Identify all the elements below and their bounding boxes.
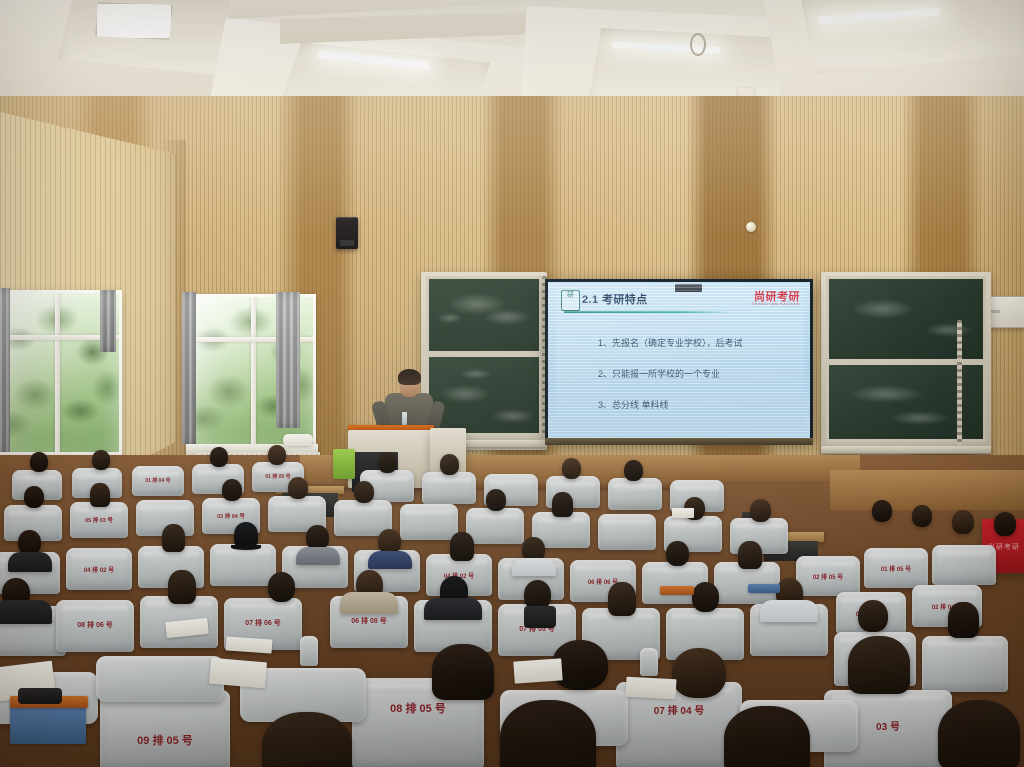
seat[interactable] bbox=[400, 504, 458, 540]
seat-label: 03 排 04 号 bbox=[202, 512, 260, 520]
seat[interactable] bbox=[598, 514, 656, 550]
seat[interactable]: 05 排 03 号 bbox=[70, 502, 128, 538]
seat-armrest bbox=[300, 636, 318, 666]
seat[interactable]: 02 排 05 号 bbox=[796, 556, 860, 596]
seat-label: 07 排 06 号 bbox=[224, 618, 302, 628]
seat[interactable] bbox=[922, 636, 1008, 692]
seat-armrest bbox=[640, 648, 658, 676]
chalkboard-left-upper bbox=[426, 276, 542, 354]
seat-label: 08 排 06 号 bbox=[56, 620, 134, 630]
screen-bottom-bar bbox=[545, 438, 813, 445]
seat-label: 01 排 04 号 bbox=[132, 477, 184, 484]
seat-tray[interactable] bbox=[748, 584, 780, 593]
seat[interactable] bbox=[422, 472, 476, 504]
slide-title: 2.1 考研特点 bbox=[582, 291, 648, 307]
seat-label: 07 排 04 号 bbox=[616, 702, 742, 717]
wall-knob bbox=[746, 222, 756, 232]
seat[interactable] bbox=[608, 478, 662, 510]
curtain-left-inner bbox=[100, 290, 116, 352]
curtain-left bbox=[0, 288, 10, 456]
notebook[interactable] bbox=[672, 508, 694, 518]
chalkboard-track-right bbox=[957, 320, 962, 446]
lecture-hall-photo: 研 2.1 考研特点 尚研考研 SHANGYAN KAOYAN 1、先报名（确定… bbox=[0, 0, 1024, 767]
green-chair-front bbox=[333, 449, 355, 479]
seat-label: 02 排 05 号 bbox=[796, 572, 860, 581]
slide-logo-mark: 研 bbox=[561, 290, 580, 311]
seat-label: 04 排 02 号 bbox=[66, 565, 132, 574]
seat[interactable] bbox=[210, 544, 276, 586]
slide-bullet-3: 3、总分线 单科线 bbox=[598, 398, 669, 411]
bag[interactable] bbox=[524, 606, 556, 628]
notebook[interactable] bbox=[209, 658, 267, 689]
slide-bullet-1: 1、先报名（确定专业学校），后考试 bbox=[598, 336, 743, 349]
water-bottle bbox=[402, 412, 407, 426]
notebook[interactable] bbox=[626, 677, 677, 700]
seat[interactable]: 08 排 06 号 bbox=[56, 600, 134, 652]
slide-title-rule bbox=[564, 311, 732, 313]
bag[interactable] bbox=[18, 688, 62, 704]
seat[interactable]: 04 排 02 号 bbox=[66, 548, 132, 590]
head-with-cap bbox=[234, 522, 258, 548]
ceiling-ring-fixture bbox=[690, 33, 706, 56]
curtain-right-b bbox=[276, 292, 300, 428]
seat[interactable] bbox=[466, 508, 524, 544]
ceiling-panel-light bbox=[95, 2, 173, 40]
seat[interactable] bbox=[932, 545, 996, 585]
slide-brand-logo-sub: SHANGYAN KAOYAN bbox=[751, 301, 800, 306]
curtain-right-a bbox=[182, 292, 196, 444]
projection-screen: 研 2.1 考研特点 尚研考研 SHANGYAN KAOYAN 1、先报名（确定… bbox=[545, 279, 813, 441]
seat-tray[interactable] bbox=[10, 704, 86, 744]
chalkboard-rail-right bbox=[821, 446, 991, 453]
window-sill-cloth bbox=[283, 434, 313, 446]
chalkboard-right-lower bbox=[826, 362, 986, 442]
wall-speaker bbox=[336, 217, 358, 249]
seat[interactable]: 01 排 04 号 bbox=[132, 466, 184, 496]
seat-cushion[interactable] bbox=[96, 656, 224, 702]
right-aisle-floor bbox=[830, 470, 1024, 510]
chalkboard-left-lower bbox=[426, 354, 542, 436]
seat-label: 09 排 05 号 bbox=[100, 732, 230, 748]
notebook[interactable] bbox=[513, 658, 562, 683]
seat-label: 06 排 08 号 bbox=[330, 616, 408, 626]
seat-tray[interactable] bbox=[660, 586, 694, 595]
projector-chip bbox=[675, 284, 702, 292]
presentation-slide: 研 2.1 考研特点 尚研考研 SHANGYAN KAOYAN 1、先报名（确定… bbox=[548, 282, 810, 438]
seat-label: 08 排 05 号 bbox=[352, 700, 484, 716]
seat-label: 01 排 05 号 bbox=[864, 564, 928, 573]
chalkboard-right-upper bbox=[826, 276, 986, 362]
seat[interactable]: 01 排 05 号 bbox=[864, 548, 928, 588]
seat-label: 05 排 03 号 bbox=[70, 516, 128, 524]
slide-bullet-2: 2、只能报一所学校的一个专业 bbox=[598, 367, 720, 380]
